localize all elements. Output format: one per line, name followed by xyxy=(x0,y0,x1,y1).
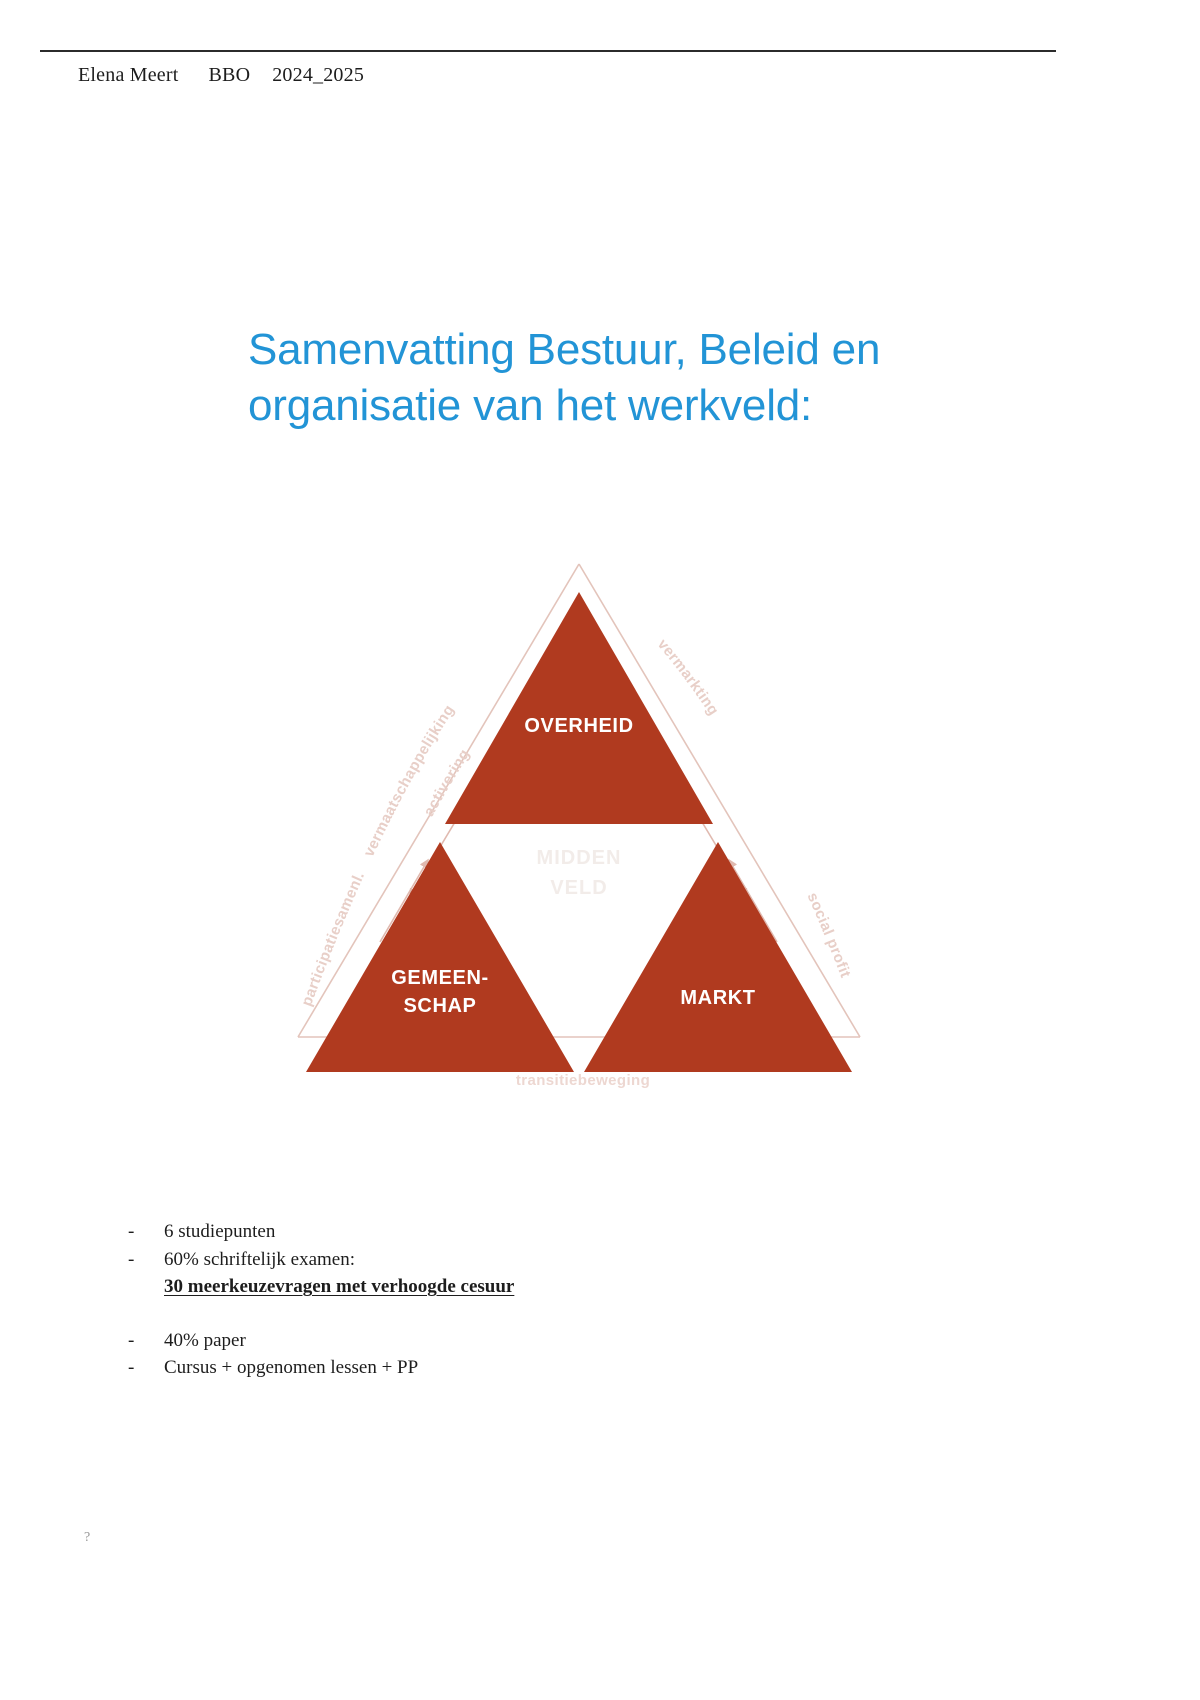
header-course-code: BBO xyxy=(208,64,250,87)
node-label-markt: MARKT xyxy=(680,987,755,1009)
center-label-line1: MIDDEN xyxy=(537,847,622,869)
page-title-line-2: organisatie van het werkveld: xyxy=(248,378,968,434)
list-item-label: 60% schriftelijk examen: xyxy=(164,1246,908,1274)
list-item-label: 40% paper xyxy=(164,1327,908,1355)
node-label-overheid: OVERHEID xyxy=(524,715,633,737)
list-item: - 40% paper xyxy=(128,1327,908,1355)
course-info-list: - 6 studiepunten - 60% schriftelijk exam… xyxy=(128,1218,908,1382)
node-overheid xyxy=(445,592,713,824)
bullet-dash: - xyxy=(128,1354,164,1382)
page-title: Samenvatting Bestuur, Beleid en organisa… xyxy=(248,322,968,435)
page-title-line-1: Samenvatting Bestuur, Beleid en xyxy=(248,325,880,374)
footer-mark: ? xyxy=(84,1530,90,1546)
document-header: Elena MeertBBO2024_2025 xyxy=(78,64,364,87)
center-label-line2: VELD xyxy=(550,877,607,899)
edge-label-transitiebeweging: transitiebeweging xyxy=(516,1072,650,1089)
bullet-dash: - xyxy=(128,1327,164,1355)
list-spacer xyxy=(128,1301,908,1327)
list-item-emphasis: 30 meerkeuzevragen met verhoogde cesuur xyxy=(164,1273,908,1301)
list-item-label: Cursus + opgenomen lessen + PP xyxy=(164,1354,908,1382)
document-page: Elena MeertBBO2024_2025 Samenvatting Bes… xyxy=(0,0,1200,1700)
edge-label-social-profit: social profit xyxy=(804,890,854,980)
list-item: - 60% schriftelijk examen: xyxy=(128,1246,908,1274)
header-author: Elena Meert xyxy=(78,64,178,87)
node-label-gemeenschap-line1: GEMEEN- xyxy=(391,967,489,989)
bullet-dash: - xyxy=(128,1218,164,1246)
list-item: - Cursus + opgenomen lessen + PP xyxy=(128,1354,908,1382)
header-divider xyxy=(40,50,1056,52)
header-academic-year: 2024_2025 xyxy=(272,64,364,87)
bullet-dash: - xyxy=(128,1246,164,1274)
list-item: - 6 studiepunten xyxy=(128,1218,908,1246)
list-item-label: 6 studiepunten xyxy=(164,1218,908,1246)
middenveld-triangle-diagram: OVERHEID GEMEEN- SCHAP MARKT MIDDEN VELD… xyxy=(250,552,910,1092)
node-label-gemeenschap-line2: SCHAP xyxy=(403,995,476,1017)
